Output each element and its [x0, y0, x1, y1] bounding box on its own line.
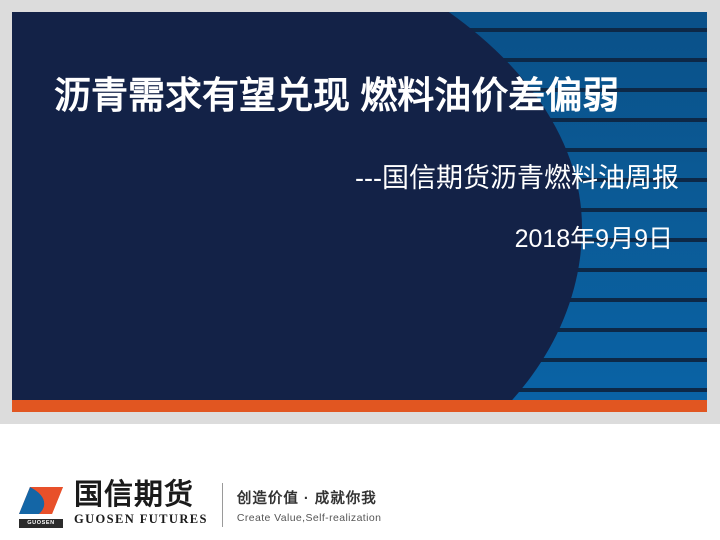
tagline-en: Create Value,Self-realization	[237, 511, 381, 526]
lockup-divider	[222, 483, 223, 527]
orange-accent-band	[12, 400, 707, 412]
diamond-icon	[18, 486, 64, 515]
guosen-logo-icon: GUOSEN	[18, 484, 66, 528]
slide-subtitle: ---国信期货沥青燃料油周报	[355, 162, 679, 194]
company-name-block: 国信期货 GUOSEN FUTURES	[74, 481, 208, 528]
company-name-en: GUOSEN FUTURES	[74, 512, 208, 528]
title-slide: 沥青需求有望兑现 燃料油价差偏弱 ---国信期货沥青燃料油周报 2018年9月9…	[0, 0, 720, 540]
brand-lockup: GUOSEN 国信期货 GUOSEN FUTURES 创造价值 · 成就你我 C…	[18, 480, 381, 528]
hero-text-block: 沥青需求有望兑现 燃料油价差偏弱 ---国信期货沥青燃料油周报 2018年9月9…	[12, 12, 707, 400]
page-title: 沥青需求有望兑现 燃料油价差偏弱	[54, 75, 674, 118]
slide-footer: GUOSEN 国信期货 GUOSEN FUTURES 创造价值 · 成就你我 C…	[0, 424, 720, 540]
logo-mark-wordmark: GUOSEN	[19, 519, 63, 528]
slide-date: 2018年9月9日	[515, 224, 673, 254]
tagline-block: 创造价值 · 成就你我 Create Value,Self-realizatio…	[237, 490, 381, 528]
hero-panel: 沥青需求有望兑现 燃料油价差偏弱 ---国信期货沥青燃料油周报 2018年9月9…	[12, 12, 707, 412]
tagline-cn: 创造价值 · 成就你我	[237, 490, 381, 509]
company-name-cn: 国信期货	[74, 481, 208, 510]
